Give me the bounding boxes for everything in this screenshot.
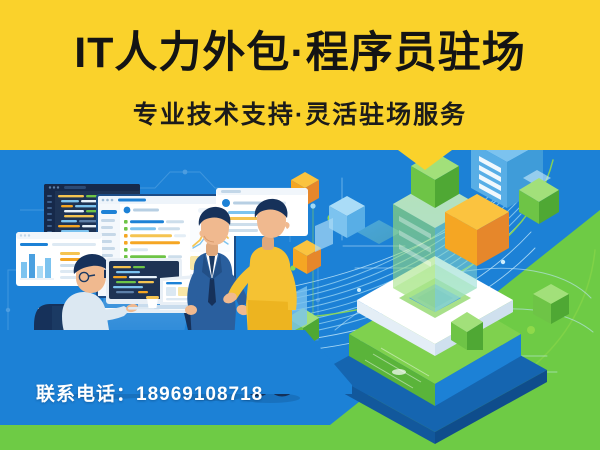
contact-phone-label: 联系电话：18969108718 [36, 379, 263, 406]
page-title: IT人力外包·程序员驻场 [0, 30, 600, 76]
floating-cube-green-far-right [533, 284, 569, 324]
header-yellow-band [0, 0, 600, 172]
promo-banner: IT人力外包·程序员驻场 专业技术支持·灵活驻场服务 联系电话：18969108… [0, 0, 600, 450]
page-subtitle: 专业技术支持·灵活驻场服务 [0, 95, 600, 131]
